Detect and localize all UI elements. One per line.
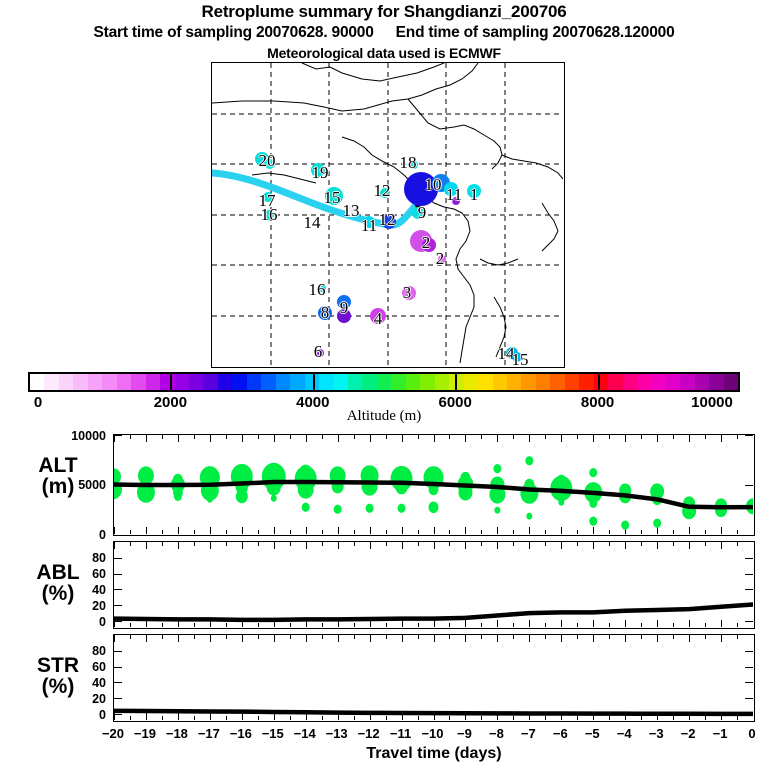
alt-bubble (589, 499, 597, 508)
y-tick-label: 40 (46, 676, 106, 690)
map-cluster-label: 2 (422, 233, 431, 253)
colorbar-segment (334, 374, 348, 390)
colorbar-segment (579, 374, 593, 390)
colorbar-segment (175, 374, 189, 390)
abl-plot-graphics (114, 542, 753, 627)
alt-bubble (494, 507, 500, 514)
colorbar-segment (536, 374, 550, 390)
y-tick-label: 0 (46, 528, 106, 542)
map-cluster-label: 12 (374, 181, 391, 201)
y-tick-label: 0 (46, 615, 106, 629)
x-tick-label: −15 (262, 726, 284, 741)
map-cluster-label: 9 (418, 203, 427, 223)
colorbar-segment (232, 374, 246, 390)
map-cluster-label: 15 (512, 350, 529, 368)
y-tick-label: 80 (46, 551, 106, 565)
alt-bubble (236, 489, 248, 503)
colorbar-segment (521, 374, 535, 390)
y-tick-label: 10000 (46, 429, 106, 443)
map-cluster-label: 16 (261, 205, 278, 225)
x-tick-label: −17 (198, 726, 220, 741)
x-tick-label: −20 (102, 726, 124, 741)
met-data-label: Meteorological data used is ECMWF (0, 45, 768, 61)
x-tick-label: −13 (326, 726, 348, 741)
start-time-label: Start time of sampling 20070628. 90000 (93, 24, 373, 41)
map-cluster-label: 3 (403, 283, 412, 303)
alt-bubble (334, 505, 342, 514)
alt-bubble (429, 502, 439, 514)
colorbar-divider (170, 372, 172, 392)
colorbar-segment (695, 374, 709, 390)
x-tick-label: −18 (166, 726, 188, 741)
map-cluster-label: 6 (314, 342, 323, 362)
alt-bubble (653, 519, 661, 528)
x-tick-label: −6 (553, 726, 568, 741)
alt-bubble (174, 492, 182, 501)
colorbar-segment (276, 374, 290, 390)
colorbar-segment (117, 374, 131, 390)
colorbar-segment (247, 374, 261, 390)
colorbar-segment (680, 374, 694, 390)
colorbar-segment (218, 374, 232, 390)
colorbar-segment (391, 374, 405, 390)
map-cluster-label: 8 (321, 303, 330, 323)
colorbar-caption: Altitude (m) (0, 408, 768, 425)
colorbar-segment (319, 374, 333, 390)
map-cluster-label: 12 (379, 210, 396, 230)
colorbar-divider (313, 372, 315, 392)
colorbar-segment (594, 374, 608, 390)
alt-bubble (366, 504, 374, 513)
y-tick-label: 5000 (46, 478, 106, 492)
map-cluster-label: 4 (374, 309, 383, 329)
map-cluster-label: 16 (309, 280, 326, 300)
x-axis-title: Travel time (days) (113, 745, 755, 763)
map-cluster-label: 15 (324, 188, 341, 208)
colorbar-segment (709, 374, 723, 390)
colorbar-segment (623, 374, 637, 390)
retroplume-map[interactable]: 1820191716151413121112101119221689436141… (211, 62, 565, 368)
map-cluster-label: 20 (259, 151, 276, 171)
x-tick-label: −5 (585, 726, 600, 741)
altitude-colorbar[interactable] (28, 372, 740, 392)
colorbar-segment (131, 374, 145, 390)
colorbar-segment (73, 374, 87, 390)
alt-bubble (520, 483, 538, 504)
alt-bubble (207, 496, 213, 503)
colorbar-segment (406, 374, 420, 390)
x-tick-label: −4 (617, 726, 632, 741)
alt-bubble (302, 503, 310, 512)
colorbar-segment (724, 374, 738, 390)
alt-bubble (493, 464, 501, 473)
colorbar-segment (507, 374, 521, 390)
map-cluster-label: 19 (312, 163, 329, 183)
colorbar-segment (102, 374, 116, 390)
map-cluster-label: 11 (361, 216, 377, 236)
map-cluster-label: 9 (340, 298, 349, 318)
map-cluster-label: 2 (436, 249, 445, 269)
y-tick-label: 0 (46, 708, 106, 722)
alt-bubble (398, 504, 406, 513)
colorbar-divider (455, 372, 457, 392)
page-title: Retroplume summary for Shangdianzi_20070… (0, 2, 768, 22)
colorbar-segment (348, 374, 362, 390)
x-tick-label: −8 (489, 726, 504, 741)
alt-bubble (138, 466, 154, 484)
alt-label-line1: ALT (8, 455, 108, 476)
colorbar-segment (203, 374, 217, 390)
abl-line (114, 604, 753, 619)
colorbar-segment (362, 374, 376, 390)
alt-bubble (558, 499, 564, 506)
x-tick-label: 0 (748, 726, 755, 741)
x-tick-label: −2 (681, 726, 696, 741)
x-tick-label: −19 (134, 726, 156, 741)
colorbar-segment (377, 374, 391, 390)
colorbar-segment (651, 374, 665, 390)
colorbar-segment (464, 374, 478, 390)
x-tick-label: −10 (421, 726, 443, 741)
alt-bubble (362, 477, 378, 495)
sampling-time-line: Start time of sampling 20070628. 90000En… (0, 24, 768, 42)
alt-plot-panel[interactable] (113, 434, 755, 536)
y-tick-label: 60 (46, 660, 106, 674)
abl-plot-panel[interactable] (113, 541, 755, 629)
map-cluster-label: 1 (470, 185, 479, 205)
str-plot-panel[interactable] (113, 634, 755, 722)
x-tick-label: −12 (358, 726, 380, 741)
colorbar-segment (59, 374, 73, 390)
colorbar-divider (598, 372, 600, 392)
alt-bubble (271, 495, 277, 502)
colorbar-segment (637, 374, 651, 390)
x-tick-label: −16 (230, 726, 252, 741)
retroplume-figure: Retroplume summary for Shangdianzi_20070… (0, 0, 768, 768)
y-tick-label: 20 (46, 599, 106, 613)
colorbar-segment (261, 374, 275, 390)
x-tick-label: −7 (521, 726, 536, 741)
colorbar-segment (550, 374, 564, 390)
colorbar-segment (435, 374, 449, 390)
str-line (114, 711, 753, 714)
map-cluster-label: 18 (400, 153, 417, 173)
y-tick-label: 40 (46, 583, 106, 597)
alt-bubble (526, 513, 532, 520)
colorbar-segment (44, 374, 58, 390)
alt-bubble (525, 456, 533, 465)
end-time-label: End time of sampling 20070628.120000 (396, 24, 675, 41)
colorbar-segment (146, 374, 160, 390)
alt-plot-graphics (114, 435, 753, 534)
x-tick-label: −3 (649, 726, 664, 741)
x-tick-label: −11 (390, 726, 411, 741)
colorbar-segment (420, 374, 434, 390)
map-cluster-label: 14 (304, 213, 321, 233)
x-tick-label: −1 (713, 726, 728, 741)
x-tick-label: −14 (294, 726, 316, 741)
colorbar-segment (88, 374, 102, 390)
colorbar-segment (189, 374, 203, 390)
alt-bubble (589, 468, 597, 477)
str-plot-graphics (114, 635, 753, 720)
colorbar-segment (493, 374, 507, 390)
colorbar-segment (666, 374, 680, 390)
colorbar-segment (565, 374, 579, 390)
colorbar-segment (290, 374, 304, 390)
alt-bubble (589, 517, 597, 526)
y-tick-label: 60 (46, 567, 106, 581)
y-tick-label: 20 (46, 692, 106, 706)
map-cluster-label: 13 (343, 201, 360, 221)
alt-bubble (621, 520, 629, 529)
colorbar-segment (30, 374, 44, 390)
y-tick-label: 80 (46, 644, 106, 658)
map-cluster-label: 11 (446, 185, 462, 205)
colorbar-segment (608, 374, 622, 390)
x-tick-label: −9 (457, 726, 472, 741)
map-cluster-label: 10 (425, 175, 442, 195)
colorbar-segment (478, 374, 492, 390)
